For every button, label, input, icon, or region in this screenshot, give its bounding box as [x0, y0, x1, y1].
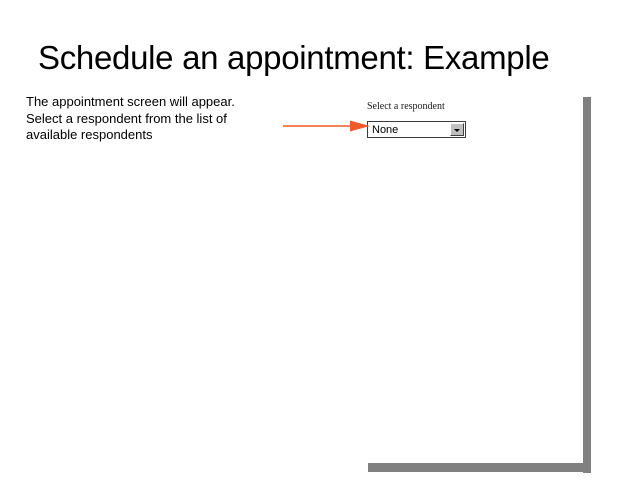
page-title: Schedule an appointment: Example [38, 38, 608, 78]
screenshot-shadow-right [583, 97, 591, 473]
pointer-arrow-icon [282, 118, 372, 134]
chevron-down-icon[interactable] [450, 123, 464, 136]
embedded-screenshot: Select a respondent None [362, 92, 592, 473]
select-a-respondent-label: Select a respondent [367, 101, 445, 112]
screenshot-surface: Select a respondent None [362, 92, 583, 463]
body-paragraph: The appointment screen will appear. Sele… [26, 94, 254, 144]
screenshot-shadow-bottom [368, 463, 591, 472]
respondent-select-value: None [372, 124, 398, 137]
slide-canvas: Schedule an appointment: Example The app… [0, 0, 640, 480]
respondent-select[interactable]: None [367, 121, 466, 138]
